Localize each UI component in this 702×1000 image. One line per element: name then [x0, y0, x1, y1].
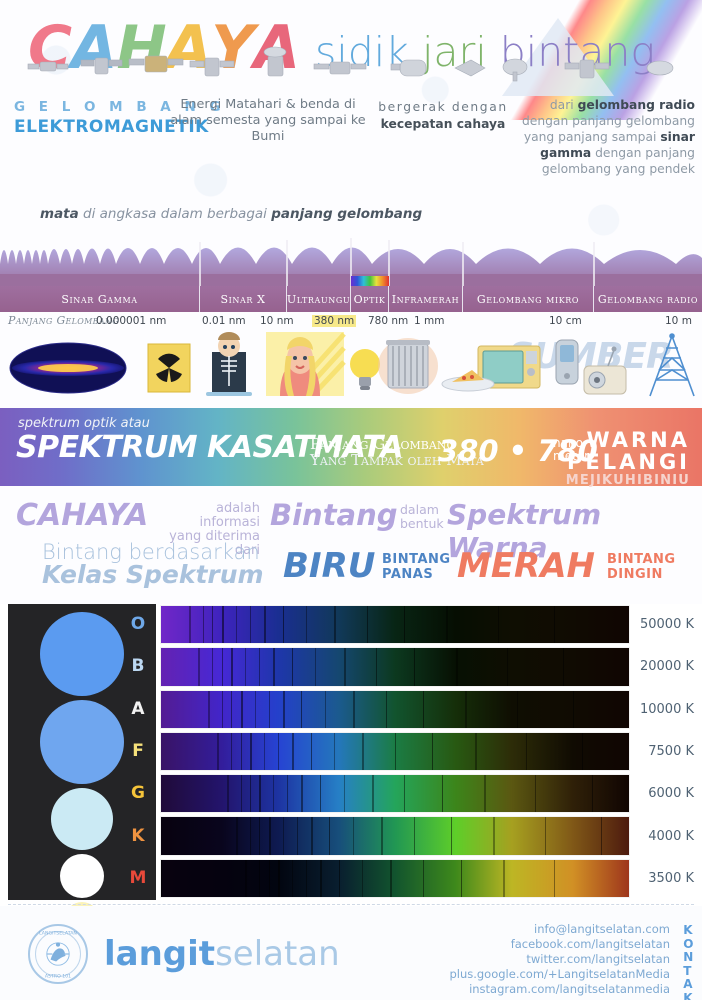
- kontak-letter: K: [683, 992, 694, 1000]
- spectral-class-label: B: [126, 656, 150, 676]
- wavelength-tick: 780 nm: [368, 315, 408, 327]
- stellar-spectrum-strip[interactable]: [160, 732, 630, 771]
- contact-list: info@langitselatan.com facebook.com/lang…: [449, 922, 670, 997]
- star-size-marker: [60, 854, 104, 898]
- em-band-xray[interactable]: Sinar X: [200, 286, 287, 312]
- warna-line3: MEJIKUHIBINIU: [566, 473, 690, 489]
- merah-word: MERAH: [457, 546, 595, 586]
- radio-receiver-icon: [584, 347, 626, 395]
- spectral-class-label: M: [126, 868, 150, 888]
- temperature-label: 6000 K: [648, 786, 694, 801]
- em-band-microwave[interactable]: Gelombang mikro: [463, 286, 594, 312]
- footer-divider: [8, 904, 694, 905]
- contact-instagram[interactable]: instagram.com/langitselatanmedia: [449, 982, 670, 997]
- em-band-ultraviolet[interactable]: Ultraungu: [287, 286, 351, 312]
- spectral-class-label: F: [126, 741, 150, 761]
- em-band-label: Sinar Gamma: [61, 293, 137, 306]
- optic-rainbow-strip: [351, 276, 389, 286]
- wavelength-tick: 10 nm: [260, 315, 294, 327]
- kontak-letter: N: [683, 951, 694, 965]
- wavelength-tick: 10 cm: [549, 315, 582, 327]
- wavelength-tick: 10 m: [665, 315, 692, 327]
- xray-person-icon: [206, 332, 252, 396]
- wavelength-tick: 380 nm: [312, 315, 356, 327]
- biru-sub-line1: BINTANG: [382, 552, 451, 567]
- kontak-letter: T: [683, 965, 694, 979]
- absorption-lines: [161, 860, 629, 897]
- logo-word-langit: langit: [104, 934, 215, 974]
- satellites-illustration: [0, 44, 702, 104]
- infographic-page: C A H A Y A sidik jari bintang G E L O M…: [0, 0, 702, 1000]
- lightbulb-icon: [350, 349, 380, 390]
- dalam-bentuk-text: dalam bentuk: [400, 503, 444, 531]
- kontak-letter: K: [683, 924, 694, 938]
- stellar-spectra-column: [160, 604, 630, 900]
- kontak-letter: A: [683, 978, 694, 992]
- merah-sub-line1: BINTANG: [607, 552, 676, 567]
- temperature-label: 3500 K: [648, 871, 694, 886]
- em-band-label: Inframerah: [392, 293, 460, 306]
- em-band-gamma[interactable]: Sinar Gamma: [0, 286, 200, 312]
- em-spectrum-band-bar: Sinar Gamma Sinar X Ultraungu Optik Infr…: [0, 286, 702, 312]
- spectral-class-column: OBAFGKM: [120, 604, 158, 900]
- em-band-label: Gelombang radio: [598, 293, 698, 306]
- temperature-label: 20000 K: [640, 659, 694, 674]
- temperature-label: 4000 K: [648, 829, 694, 844]
- spectral-class-label: A: [126, 699, 150, 719]
- warna-line2: PELANGI: [566, 451, 690, 473]
- em-band-infrared[interactable]: Inframerah: [389, 286, 463, 312]
- merah-sub-line2: DINGIN: [607, 567, 676, 582]
- biru-subtext: BINTANG PANAS: [382, 552, 451, 582]
- sunbathing-uv-icon: [266, 332, 344, 396]
- intro-block-2: bergerak dengan kecepatan cahaya: [378, 99, 508, 133]
- em-band-label: Optik: [354, 293, 386, 306]
- biru-word: BIRU: [283, 546, 375, 586]
- spectral-class-label: K: [126, 826, 150, 846]
- absorption-lines: [161, 733, 629, 770]
- wavelength-tick: 0.000001 nm: [96, 315, 166, 327]
- bintang-word: Bintang: [270, 498, 398, 532]
- intro-b3-bold-2: sinar gamma: [540, 130, 695, 160]
- wavelength-tick: 1 mm: [414, 315, 444, 327]
- temperature-label: 50000 K: [640, 617, 694, 632]
- intro-block-1: Energi Matahari & benda di alam semesta …: [168, 97, 368, 145]
- svg-text:ASTRO 101: ASTRO 101: [45, 973, 71, 979]
- wavelength-tick: 0.01 nm: [202, 315, 246, 327]
- kelas-line2: Kelas Spektrum: [42, 560, 264, 589]
- mobile-phone-icon: [556, 340, 578, 384]
- cahaya-word: CAHAYA: [16, 498, 148, 533]
- temperature-column: 50000 K20000 K10000 K7500 K6000 K4000 K3…: [636, 604, 702, 900]
- dalam-line1: dalam: [400, 503, 444, 517]
- absorption-lines: [161, 817, 629, 854]
- spectral-class-label: G: [126, 783, 150, 803]
- radio-tower-icon: [650, 334, 694, 396]
- contact-twitter[interactable]: twitter.com/langitselatan: [449, 952, 670, 967]
- absorption-lines: [161, 775, 629, 812]
- em-sources-row: [0, 332, 702, 404]
- intro-block-3: dari gelombang radio dengan panjang gelo…: [505, 97, 695, 177]
- contact-google-plus[interactable]: plus.google.com/+LangitselatanMedia: [449, 967, 670, 982]
- visible-subtitle: spektrum optik atau: [18, 416, 150, 431]
- galaxy-gamma-map-icon: [10, 343, 126, 393]
- satellites-caption: mata di angkasa dalam berbagai panjang g…: [40, 206, 422, 222]
- intro-section: G E L O M B A N G ELEKTROMAGNETIK Energi…: [0, 95, 702, 170]
- caption-bold-2: panjang gelombang: [271, 206, 422, 222]
- stellar-spectrum-strip[interactable]: [160, 859, 630, 898]
- contact-facebook[interactable]: facebook.com/langitselatan: [449, 937, 670, 952]
- spectral-class-label: O: [126, 614, 150, 634]
- dalam-line2: bentuk: [400, 517, 444, 531]
- contact-email[interactable]: info@langitselatan.com: [449, 922, 670, 937]
- absorption-lines: [161, 648, 629, 685]
- caption-bold-1: mata: [40, 206, 79, 222]
- temperature-label: 7500 K: [648, 744, 694, 759]
- absorption-lines: [161, 691, 629, 728]
- visible-spectrum-banner: spektrum optik atau SPEKTRUM KASATMATA P…: [0, 408, 702, 486]
- kontak-letter: O: [683, 938, 694, 952]
- star-size-marker: [51, 788, 113, 850]
- em-band-radio[interactable]: Gelombang radio: [594, 286, 702, 312]
- langitselatan-seal-icon: LANGITSELATAN ASTRO 101: [28, 924, 88, 984]
- wavelength-scale: Panjang Gelombang 0.000001 nm 0.01 nm 10…: [0, 312, 702, 332]
- langitselatan-wordmark[interactable]: langitselatan: [104, 934, 340, 974]
- em-band-label: Gelombang mikro: [477, 293, 579, 306]
- em-band-label: Sinar X: [220, 293, 265, 306]
- footer: LANGITSELATAN ASTRO 101 langitselatan in…: [0, 906, 702, 1000]
- spectral-class-chart: OBAFGKM 50000 K20000 K10000 K7500 K6000 …: [0, 604, 702, 906]
- absorption-lines: [161, 606, 629, 643]
- stellar-spectrum-strip[interactable]: [160, 605, 630, 644]
- warna-line1: WARNA: [566, 430, 690, 451]
- stellar-spectrum-strip[interactable]: [160, 647, 630, 686]
- em-band-optical[interactable]: Optik: [351, 286, 389, 312]
- biru-sub-line2: PANAS: [382, 567, 451, 582]
- em-band-label: Ultraungu: [287, 293, 350, 306]
- cahaya-statement-row: CAHAYA adalah informasi yang diterima da…: [0, 494, 702, 538]
- star-size-marker: [40, 612, 124, 696]
- stellar-spectrum-strip[interactable]: [160, 816, 630, 855]
- stellar-spectrum-strip[interactable]: [160, 690, 630, 729]
- intro-block-2-line2: kecepatan cahaya: [381, 117, 506, 131]
- radiation-hazard-icon: [148, 344, 190, 392]
- merah-subtext: BINTANG DINGIN: [607, 552, 676, 582]
- stellar-spectrum-strip[interactable]: [160, 774, 630, 813]
- adalah-line1: adalah informasi: [156, 502, 260, 530]
- kontak-vertical-label: KONTAK: [683, 924, 694, 1000]
- infrared-heater-icon: [378, 338, 438, 394]
- kelas-spektrum-row: Bintang berdasarkan Kelas Spektrum BIRU …: [0, 538, 702, 590]
- logo-word-selatan: selatan: [215, 934, 340, 974]
- temperature-label: 10000 K: [640, 702, 694, 717]
- star-size-marker: [40, 700, 124, 784]
- svg-text:LANGITSELATAN: LANGITSELATAN: [39, 930, 77, 936]
- visible-warna-pelangi: WARNA PELANGI MEJIKUHIBINIU: [566, 430, 690, 489]
